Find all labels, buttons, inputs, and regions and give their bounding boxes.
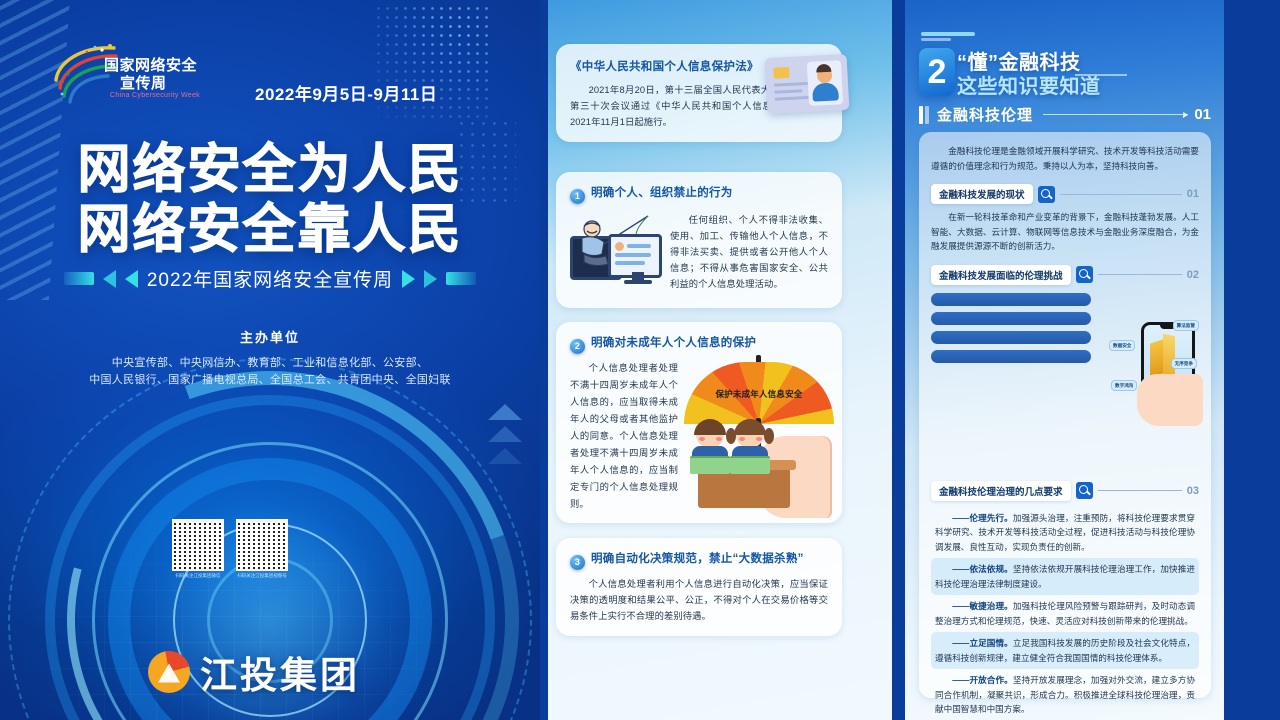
section-1-number: 1 <box>570 189 585 204</box>
subtitle-ribbon: 2022年国家网络安全宣传周 <box>0 265 540 292</box>
law-intro-card: 《中华人民共和国个人信息保护法》 2021年8月20日，第十三届全国人民代表大会… <box>556 44 842 142</box>
logo-text-line2: 宣传周 <box>120 72 167 93</box>
section-3-number: 3 <box>570 555 585 570</box>
phone-tag-4: 数字鸿沟 <box>1111 380 1137 391</box>
umbrella-label: 保护未成年人信息安全 <box>684 388 834 400</box>
magnifier-icon[interactable] <box>1076 482 1093 499</box>
headline-line-1: 网络安全为人民 <box>0 140 540 200</box>
decorative-arrows <box>488 404 522 470</box>
section-2-title: 明确对未成年人个人信息的保护 <box>591 337 756 349</box>
requirement-lead: ——开放合作。 <box>952 675 1013 685</box>
ribbon-text: 2022年国家网络安全宣传周 <box>147 265 393 292</box>
qr-code-image-1[interactable] <box>172 519 224 571</box>
law-section-2: 2明确对未成年人个人信息的保护 个人信息处理者处理不满十四周岁未成年人个人信息的… <box>556 322 842 523</box>
section-marker-bars-icon <box>919 106 929 124</box>
phone-tag-3: 无序竞争 <box>1171 358 1197 369</box>
fintech-intro-text: 金融科技伦理是金融领域开展科学研究、技术开发等科技活动需要遵循的价值理念和行为规… <box>931 144 1199 173</box>
magnifier-icon[interactable] <box>1076 266 1093 283</box>
id-card-illustration-icon <box>765 54 850 114</box>
chapter-number-badge: 2 <box>919 48 955 96</box>
requirement-lead: ——伦理先行。 <box>952 513 1013 523</box>
child-icon-boy <box>690 422 730 474</box>
phone-in-hand-illustration-icon: 算法监管 数据安全 无序竞争 数字鸿沟 <box>1111 318 1203 424</box>
decorative-rule-top-2 <box>921 38 951 41</box>
subsection-dash-3 <box>1098 490 1182 491</box>
logo-text-english: China Cybersecurity Week <box>110 92 200 99</box>
ribbon-chevron-right-outer <box>424 270 437 288</box>
requirement-lead: ——依法依规。 <box>952 564 1013 574</box>
headline-line-2: 网络安全靠人民 <box>0 200 540 260</box>
minors-umbrella-illustration-icon: 保护未成年人信息安全 <box>678 356 836 521</box>
section-1-body: 任何组织、个人不得非法收集、使用、加工、传输他人个人信息，不得非法买卖、提供或者… <box>670 212 828 298</box>
decorative-rule-top <box>921 32 975 36</box>
subsection-dash-2 <box>1098 274 1182 275</box>
monitor-base <box>624 280 652 284</box>
requirement-lead: ——敏捷治理。 <box>952 601 1013 611</box>
subsection-index-1: 01 <box>1187 188 1199 200</box>
section-2-heading: 2明确对未成年人个人信息的保护 <box>570 334 828 354</box>
subsection-dash-1 <box>1060 194 1182 195</box>
subsection-label-3: 金融科技伦理治理的几点要求 <box>931 481 1071 501</box>
qr-caption-1: 扫码关注江投集团微信 <box>172 573 224 579</box>
qr-code-item[interactable]: 扫码关注江投集团微信 <box>172 519 224 579</box>
qr-code-item[interactable]: 扫码关注江投集团视频号 <box>236 519 288 579</box>
fintech-content-card: 金融科技伦理是金融领域开展科学研究、技术开发等科技活动需要遵循的价值理念和行为规… <box>919 132 1211 698</box>
requirement-item: ——依法依规。坚持依法依规开展科技伦理治理工作，加快推进科技伦理治理法律制度建设… <box>931 558 1199 595</box>
cybersecurity-week-logo: 国家网络安全 宣传周 China Cybersecurity Week <box>52 42 192 110</box>
redacted-bar <box>931 293 1091 306</box>
redacted-bar <box>931 312 1091 325</box>
phone-tag-1: 算法监管 <box>1173 320 1199 331</box>
gold-bar-icon-2 <box>1163 334 1175 377</box>
redacted-text-bars <box>931 293 1091 363</box>
fishing-phishing-illustration-icon <box>570 212 662 298</box>
company-brand: 江投集团 <box>148 645 360 699</box>
desk-icon <box>698 468 790 508</box>
subsection-index-3: 03 <box>1187 485 1199 497</box>
organizers-title: 主办单位 <box>0 327 540 346</box>
company-name: 江投集团 <box>200 645 360 699</box>
poster-panel-fintech-ethics: 2 “懂”金融科技 这些知识要知道 金融科技伦理 01 金融科技伦理是金融领域开… <box>905 0 1224 720</box>
requirement-item: ——立足国情。立足我国科技发展的历史阶段及社会文化特点，遵循科技创新规律，建立健… <box>931 632 1199 669</box>
organizers-block: 主办单位 中央宣传部、中央网信办、教育部、工业和信息化部、公安部、 中国人民银行… <box>0 327 540 389</box>
decorative-dot-matrix <box>374 4 494 124</box>
magnifier-icon[interactable] <box>1038 186 1055 203</box>
section-1-heading: 1明确个人、组织禁止的行为 <box>570 184 828 204</box>
section-number: 01 <box>1194 106 1211 123</box>
section-3-title: 明确自动化决策规范，禁止“大数据杀熟” <box>591 553 804 565</box>
poster-panel-personal-info-law: 《中华人民共和国个人信息保护法》 2021年8月20日，第十三届全国人民代表大会… <box>548 0 892 720</box>
umbrella-canopy-icon: 保护未成年人信息安全 <box>684 362 834 424</box>
ribbon-chevron-right-inner <box>402 270 415 288</box>
section-1-title: 明确个人、组织禁止的行为 <box>591 187 733 199</box>
requirement-item: ——开放合作。坚持开放发展理念，加强对外交流，建立多方协同合作机制，凝聚共识，形… <box>931 669 1199 720</box>
monitor-stand <box>632 272 644 280</box>
section-3-body: 个人信息处理者利用个人信息进行自动化决策，应当保证决策的透明度和结果公平、公正，… <box>570 576 828 624</box>
redacted-bar <box>931 331 1091 344</box>
main-headline: 网络安全为人民 网络安全靠人民 <box>0 140 540 260</box>
ribbon-bar-right <box>446 272 476 285</box>
poster-stage: 国家网络安全 宣传周 China Cybersecurity Week 2022… <box>0 0 1280 720</box>
qr-code-image-2[interactable] <box>236 519 288 571</box>
law-section-3: 3明确自动化决策规范，禁止“大数据杀熟” 个人信息处理者利用个人信息进行自动化决… <box>556 538 842 636</box>
ribbon-chevron-left-inner <box>125 270 138 288</box>
poster-panel-cybersecurity-week: 国家网络安全 宣传周 China Cybersecurity Week 2022… <box>0 0 540 720</box>
ribbon-bar-left <box>64 272 94 285</box>
subsection-header-2[interactable]: 金融科技发展面临的伦理挑战 02 <box>931 265 1199 285</box>
section-title: 金融科技伦理 <box>937 104 1033 125</box>
ribbon-chevron-left-outer <box>103 270 116 288</box>
section-3-heading: 3明确自动化决策规范，禁止“大数据杀熟” <box>570 550 828 570</box>
subsection-index-2: 02 <box>1187 269 1199 281</box>
redacted-bar <box>931 350 1091 363</box>
phone-tag-2: 数据安全 <box>1109 340 1135 351</box>
qr-caption-2: 扫码关注江投集团视频号 <box>236 573 288 579</box>
law-section-1: 1明确个人、组织禁止的行为 <box>556 172 842 308</box>
requirement-lead: ——立足国情。 <box>952 638 1013 648</box>
requirement-item: ——伦理先行。加强源头治理，注重预防，将科技伦理要求贯穿科学研究、技术开发等科技… <box>931 507 1199 559</box>
child-icon-girl <box>730 422 770 474</box>
company-logo-icon <box>148 651 190 693</box>
section-connector-line <box>1043 114 1188 115</box>
organizers-line-2: 中国人民银行、国家广播电视总局、全国总工会、共青团中央、全国妇联 <box>0 372 540 389</box>
subsection-label-2: 金融科技发展面临的伦理挑战 <box>931 265 1071 285</box>
subsection-header-3[interactable]: 金融科技伦理治理的几点要求 03 <box>931 481 1199 501</box>
section-2-body: 个人信息处理者处理不满十四周岁未成年人个人信息的，应当取得未成年人的父母或者其他… <box>570 360 678 513</box>
event-date: 2022年9月5日-9月11日 <box>255 80 437 105</box>
hand-icon <box>1137 374 1203 426</box>
organizers-line-1: 中央宣传部、中央网信办、教育部、工业和信息化部、公安部、 <box>0 355 540 372</box>
requirement-item: ——敏捷治理。加强科技伦理风险预警与跟踪研判，及时动态调整治理方式和伦理规范，快… <box>931 595 1199 632</box>
qr-code-group: 扫码关注江投集团微信 扫码关注江投集团视频号 <box>172 519 288 579</box>
subsection-label-1: 金融科技发展的现状 <box>931 184 1033 204</box>
section-2-number: 2 <box>570 339 585 354</box>
subsection-header-1[interactable]: 金融科技发展的现状 01 <box>931 184 1199 204</box>
section-header-fintech-ethics: 金融科技伦理 01 <box>919 104 1211 125</box>
subsection-body-1: 在新一轮科技革命和产业变革的背景下，金融科技蓬勃发展。人工智能、大数据、云计算、… <box>931 210 1199 254</box>
decorative-title-underline <box>1075 74 1127 76</box>
